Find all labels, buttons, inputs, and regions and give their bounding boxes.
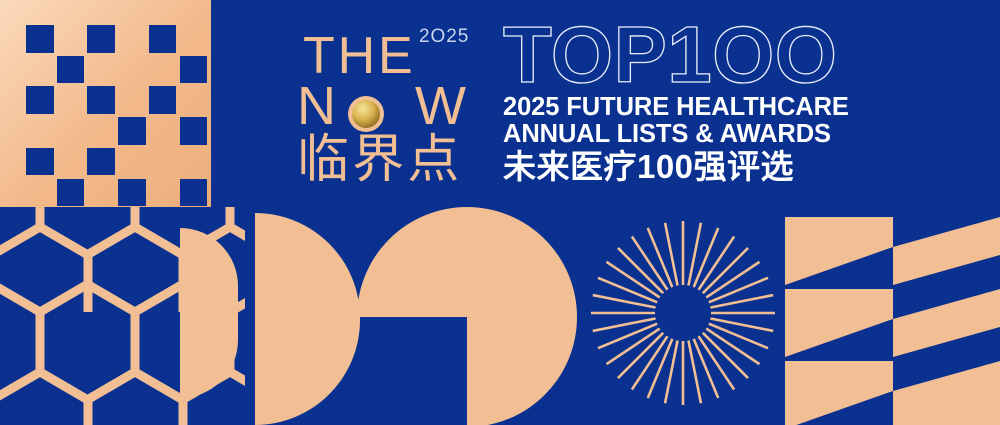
the-now-logo: THE 2O25 N W 临界点	[297, 22, 482, 192]
logo-year-text: 2O25	[419, 26, 469, 48]
checker-cell	[26, 148, 54, 176]
checker-cell	[87, 86, 115, 114]
logo-chinese-text: 临界点	[297, 134, 462, 186]
checker-cell	[26, 86, 54, 114]
checkerboard-pattern	[0, 0, 211, 207]
sunburst-rays	[588, 218, 778, 408]
checker-cell	[149, 25, 177, 53]
half-disc-large	[255, 213, 360, 425]
sunburst-ray	[703, 248, 748, 293]
checker-cell	[57, 179, 85, 207]
top100-title: TOP1OO	[503, 18, 853, 92]
logo-now-text: N W	[297, 79, 469, 133]
subtitle-en-line1: 2025 FUTURE HEALTHCARE	[503, 94, 853, 121]
logo-the-text: THE	[303, 30, 416, 82]
subtitle-en-line2: ANNUAL LISTS & AWARDS	[503, 121, 853, 148]
logo-now-n: N	[297, 76, 339, 136]
checker-cell	[118, 117, 146, 145]
checker-cell	[180, 117, 208, 145]
stripes-svg	[785, 207, 1000, 425]
logo-now-w: W	[415, 76, 469, 136]
checker-cell	[180, 179, 208, 207]
sunburst-svg	[588, 218, 778, 408]
checker-cell	[180, 56, 208, 84]
notched-circle-svg	[357, 207, 577, 425]
sunburst-ray	[703, 333, 748, 378]
checker-cell	[57, 56, 85, 84]
checker-cell	[149, 86, 177, 114]
sunburst-ray	[618, 248, 663, 293]
gold-orb-icon	[348, 96, 384, 132]
headline-block: TOP1OO 2025 FUTURE HEALTHCARE ANNUAL LIS…	[503, 18, 853, 187]
diagonal-stripes-pattern	[785, 207, 1000, 425]
checker-cell	[87, 148, 115, 176]
subtitle-cn: 未来医疗100强评选	[503, 148, 853, 187]
banner-root: THE 2O25 N W 临界点 TOP1OO 2025 FUTURE HEAL…	[0, 0, 1000, 425]
checker-cell	[118, 179, 146, 207]
checker-cell	[26, 25, 54, 53]
notched-circle	[357, 207, 577, 425]
sunburst-ray	[618, 333, 663, 378]
checker-cell	[87, 25, 115, 53]
